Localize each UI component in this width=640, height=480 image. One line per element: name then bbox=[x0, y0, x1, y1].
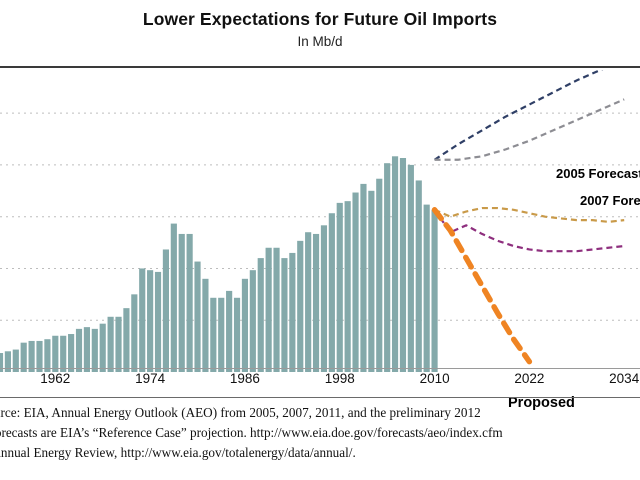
x-tick-1998: 1998 bbox=[325, 371, 355, 386]
x-tick-2034: 2034 bbox=[609, 371, 639, 386]
chart-header: Lower Expectations for Future Oil Import… bbox=[0, 0, 640, 68]
source-line-1: Source: EIA, Annual Energy Outlook (AEO)… bbox=[0, 403, 640, 423]
chart-forecast-lines bbox=[435, 70, 625, 362]
x-tick-2010: 2010 bbox=[420, 371, 450, 386]
chart-x-axis: 1962197419861998201020222034 bbox=[0, 368, 640, 394]
series-label-2005-forecast: 2005 Forecast bbox=[556, 166, 640, 181]
header-divider bbox=[0, 66, 640, 68]
series-label-2007-forecast: 2007 Forecast bbox=[580, 193, 640, 208]
page-title: Lower Expectations for Future Oil Import… bbox=[0, 0, 640, 30]
source-line-3: A Annual Energy Review, http://www.eia.g… bbox=[0, 443, 640, 463]
footer-divider bbox=[0, 397, 640, 398]
chart-bars bbox=[0, 156, 438, 372]
x-tick-2022: 2022 bbox=[514, 371, 544, 386]
chart-svg bbox=[0, 70, 640, 372]
x-tick-1974: 1974 bbox=[135, 371, 165, 386]
x-tick-1986: 1986 bbox=[230, 371, 260, 386]
chart-subtitle: In Mb/d bbox=[0, 30, 640, 49]
x-axis-line bbox=[0, 368, 640, 369]
source-line-2: r, forecasts are EIA’s “Reference Case” … bbox=[0, 423, 640, 443]
source-note: Source: EIA, Annual Energy Outlook (AEO)… bbox=[0, 403, 640, 463]
chart-plot-area: 2005 Forecast 2007 Forecast Proposed bbox=[0, 70, 640, 372]
x-tick-1962: 1962 bbox=[40, 371, 70, 386]
